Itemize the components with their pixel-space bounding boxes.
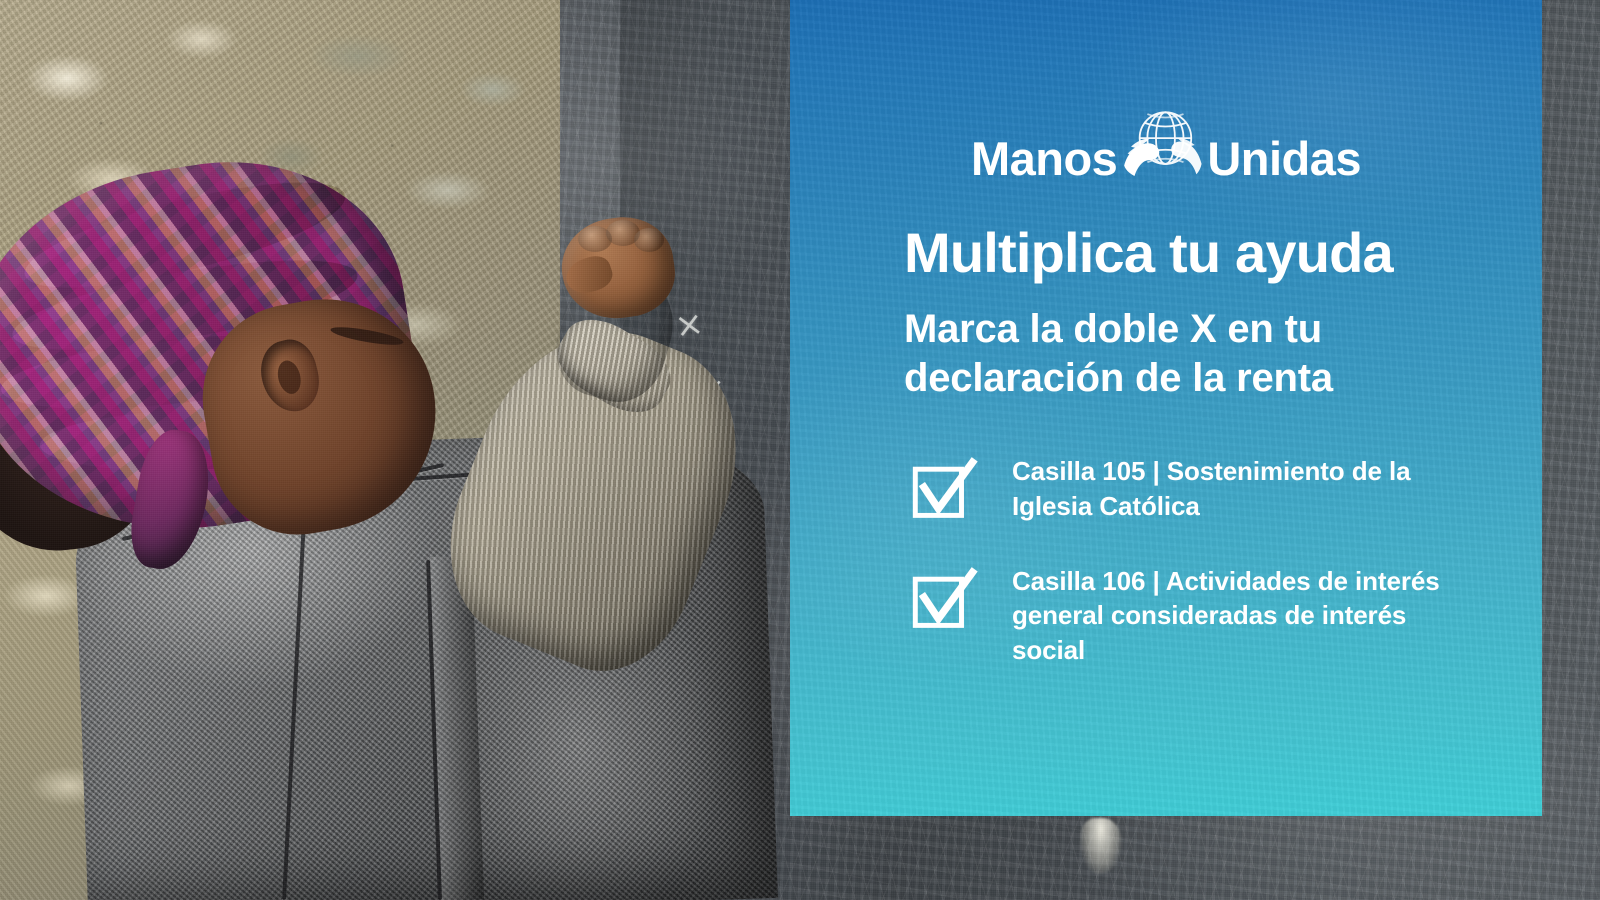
checkbox-checked-icon[interactable] xyxy=(912,456,978,522)
casilla-checklist: Casilla 105 | Sostenimiento de la Iglesi… xyxy=(848,450,1484,668)
message-panel: Manos xyxy=(790,0,1542,816)
campaign-banner: × × × xyxy=(0,0,1600,900)
list-item-label: Casilla 105 | Sostenimiento de la Iglesi… xyxy=(1012,450,1482,524)
list-item[interactable]: Casilla 106 | Actividades de interés gen… xyxy=(912,560,1484,668)
list-item-label: Casilla 106 | Actividades de interés gen… xyxy=(1012,560,1482,668)
checkbox-checked-icon[interactable] xyxy=(912,566,978,632)
logo-word-manos: Manos xyxy=(971,135,1117,182)
page-title: Multiplica tu ayuda xyxy=(848,224,1484,283)
list-item[interactable]: Casilla 105 | Sostenimiento de la Iglesi… xyxy=(912,450,1484,524)
knuckle-3 xyxy=(634,228,664,252)
subtitle-line-2: declaración de la renta xyxy=(904,354,1484,404)
manos-unidas-logo[interactable]: Manos xyxy=(848,0,1484,188)
subtitle: Marca la doble X en tu declaración de la… xyxy=(848,305,1484,404)
logo-word-unidas: Unidas xyxy=(1207,135,1361,182)
girl-figure xyxy=(0,0,800,900)
globe-in-hands-logo-icon xyxy=(1119,102,1205,188)
subtitle-line-1: Marca la doble X en tu xyxy=(904,305,1484,355)
